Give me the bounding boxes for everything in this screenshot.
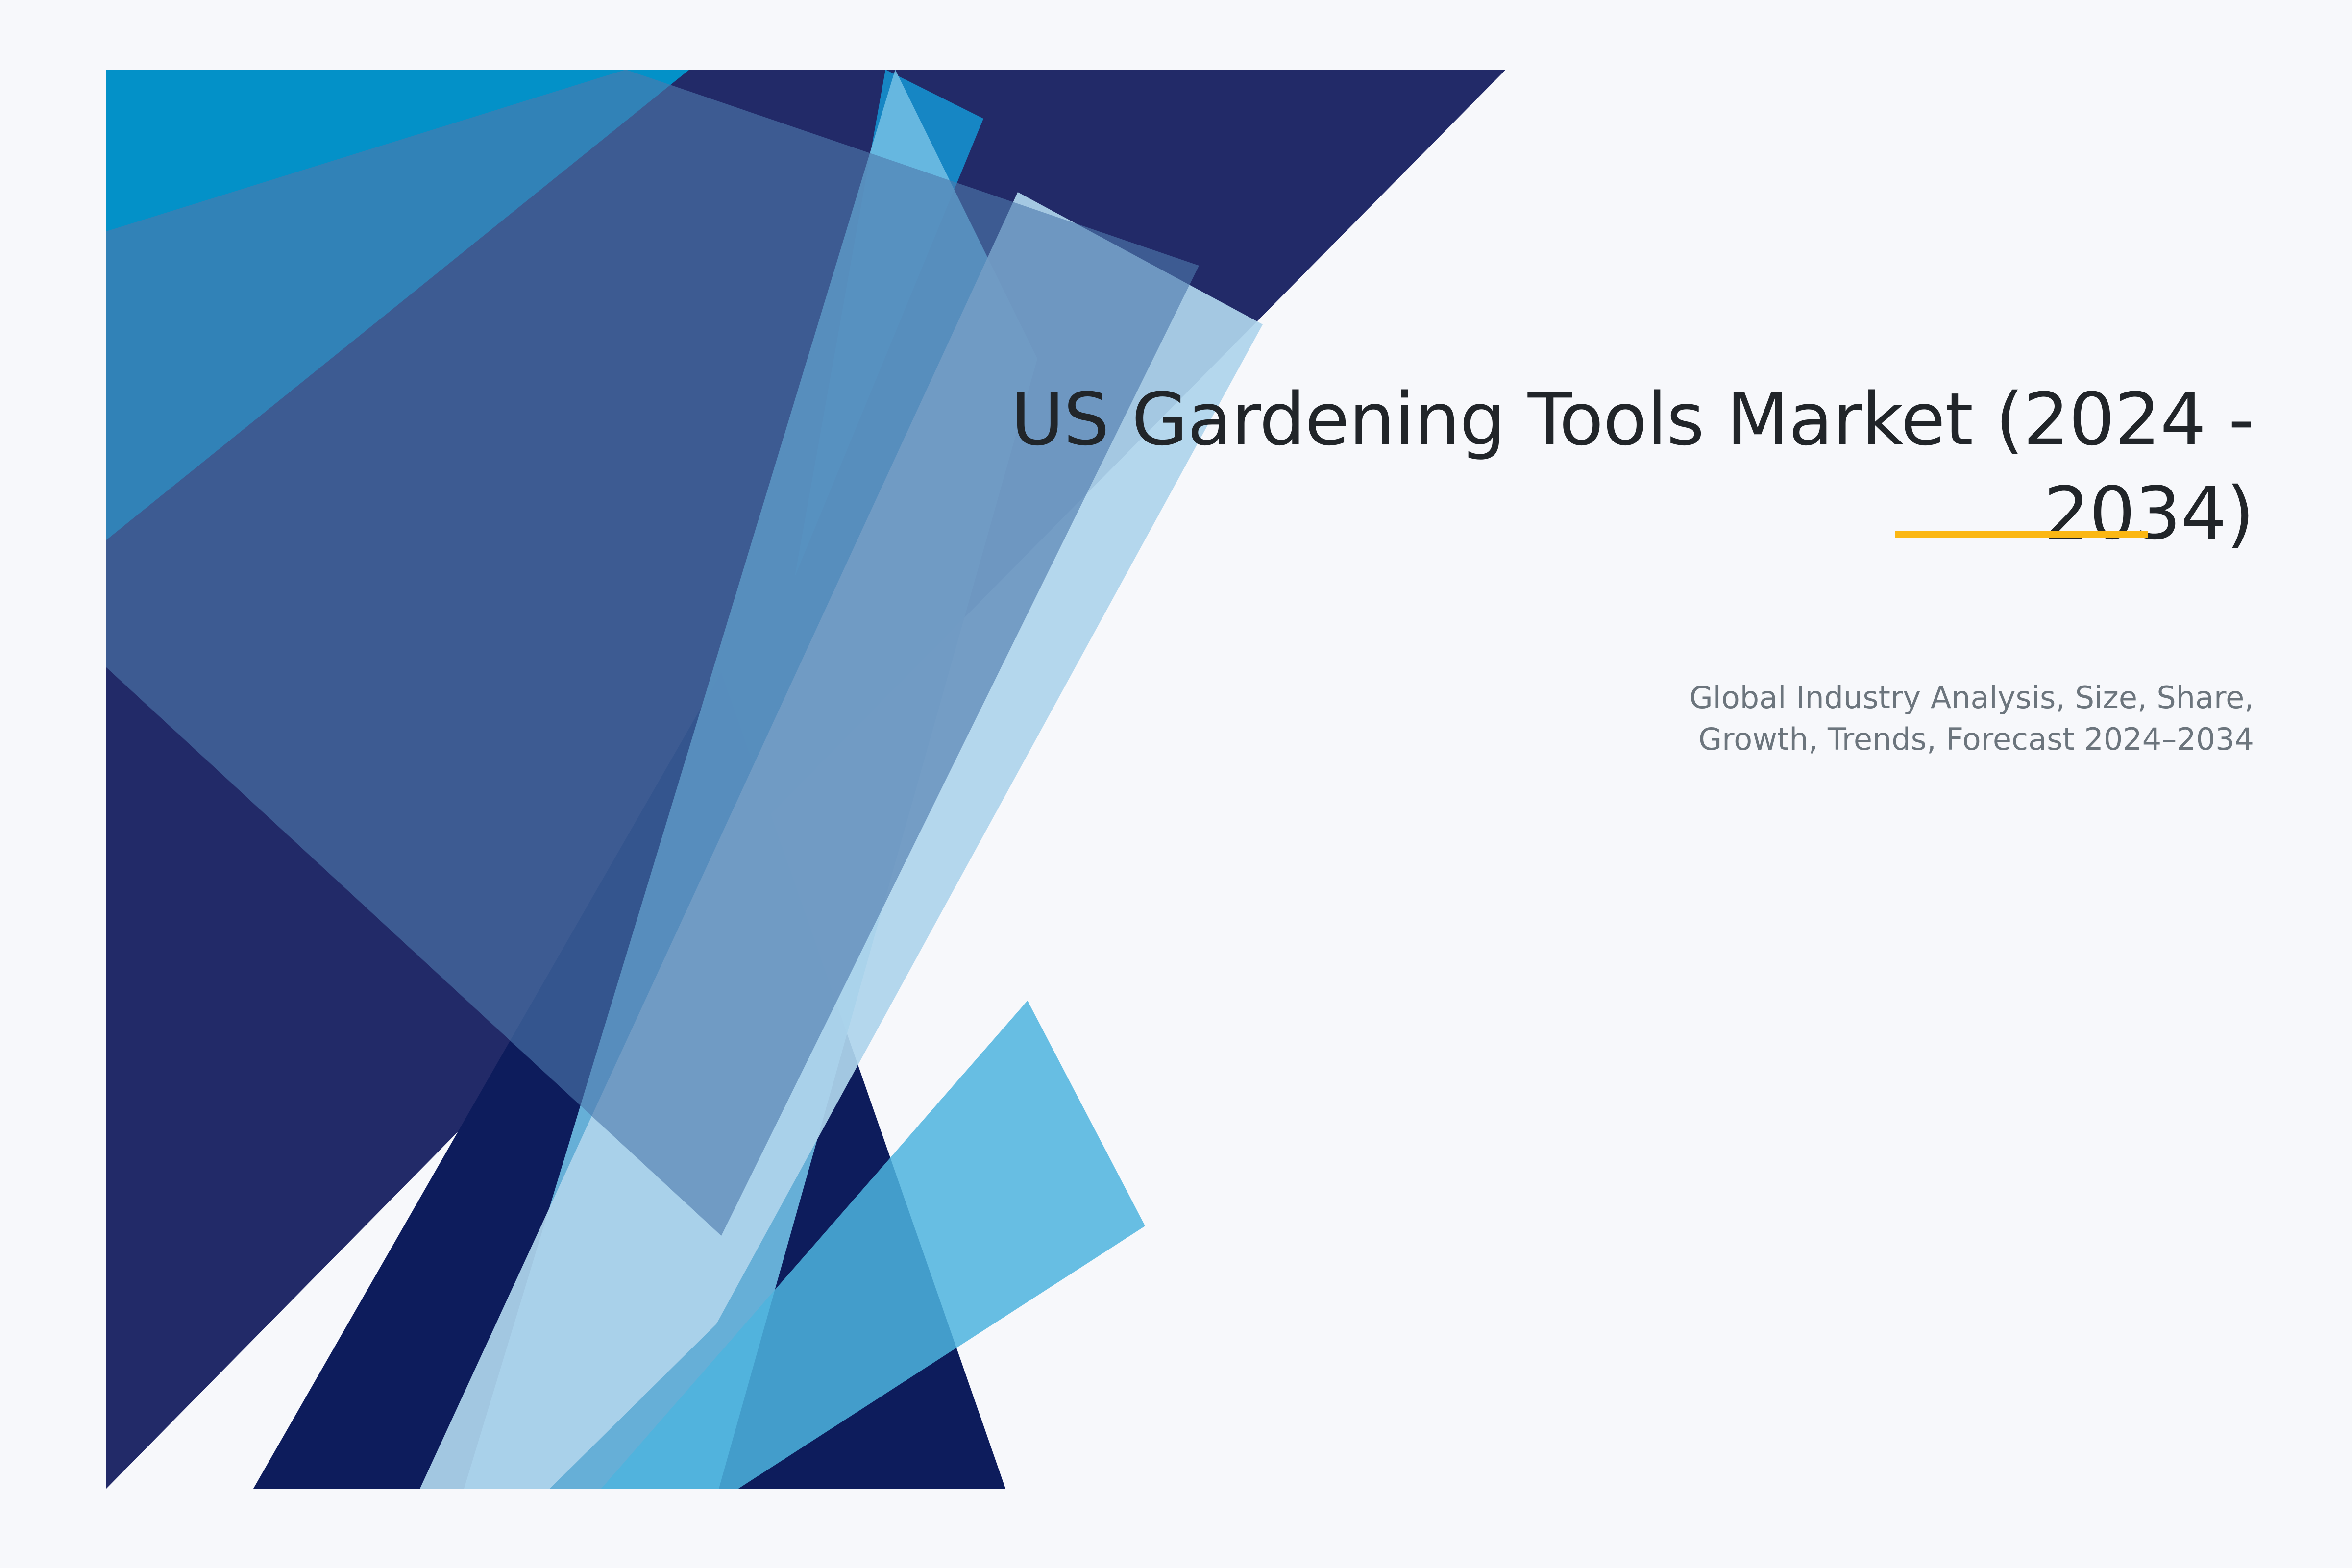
abstract-polygon-graphic (106, 70, 1508, 1489)
slide-canvas: US Gardening Tools Market (2024 - 2034) … (0, 0, 2352, 1568)
shape-cyan-field (106, 70, 689, 721)
title-accent-underline (1895, 531, 2148, 538)
cover-text-block: US Gardening Tools Market (2024 - 2034) … (921, 372, 2254, 760)
shape-deep-navy-spike (253, 672, 1005, 1489)
page-subtitle: Global Industry Analysis, Size, Share, G… (1622, 677, 2254, 760)
shape-sky-beam (464, 70, 1037, 1489)
shape-navy-wedge (106, 70, 1506, 1489)
shape-light-cyan-edge (601, 1001, 1145, 1489)
